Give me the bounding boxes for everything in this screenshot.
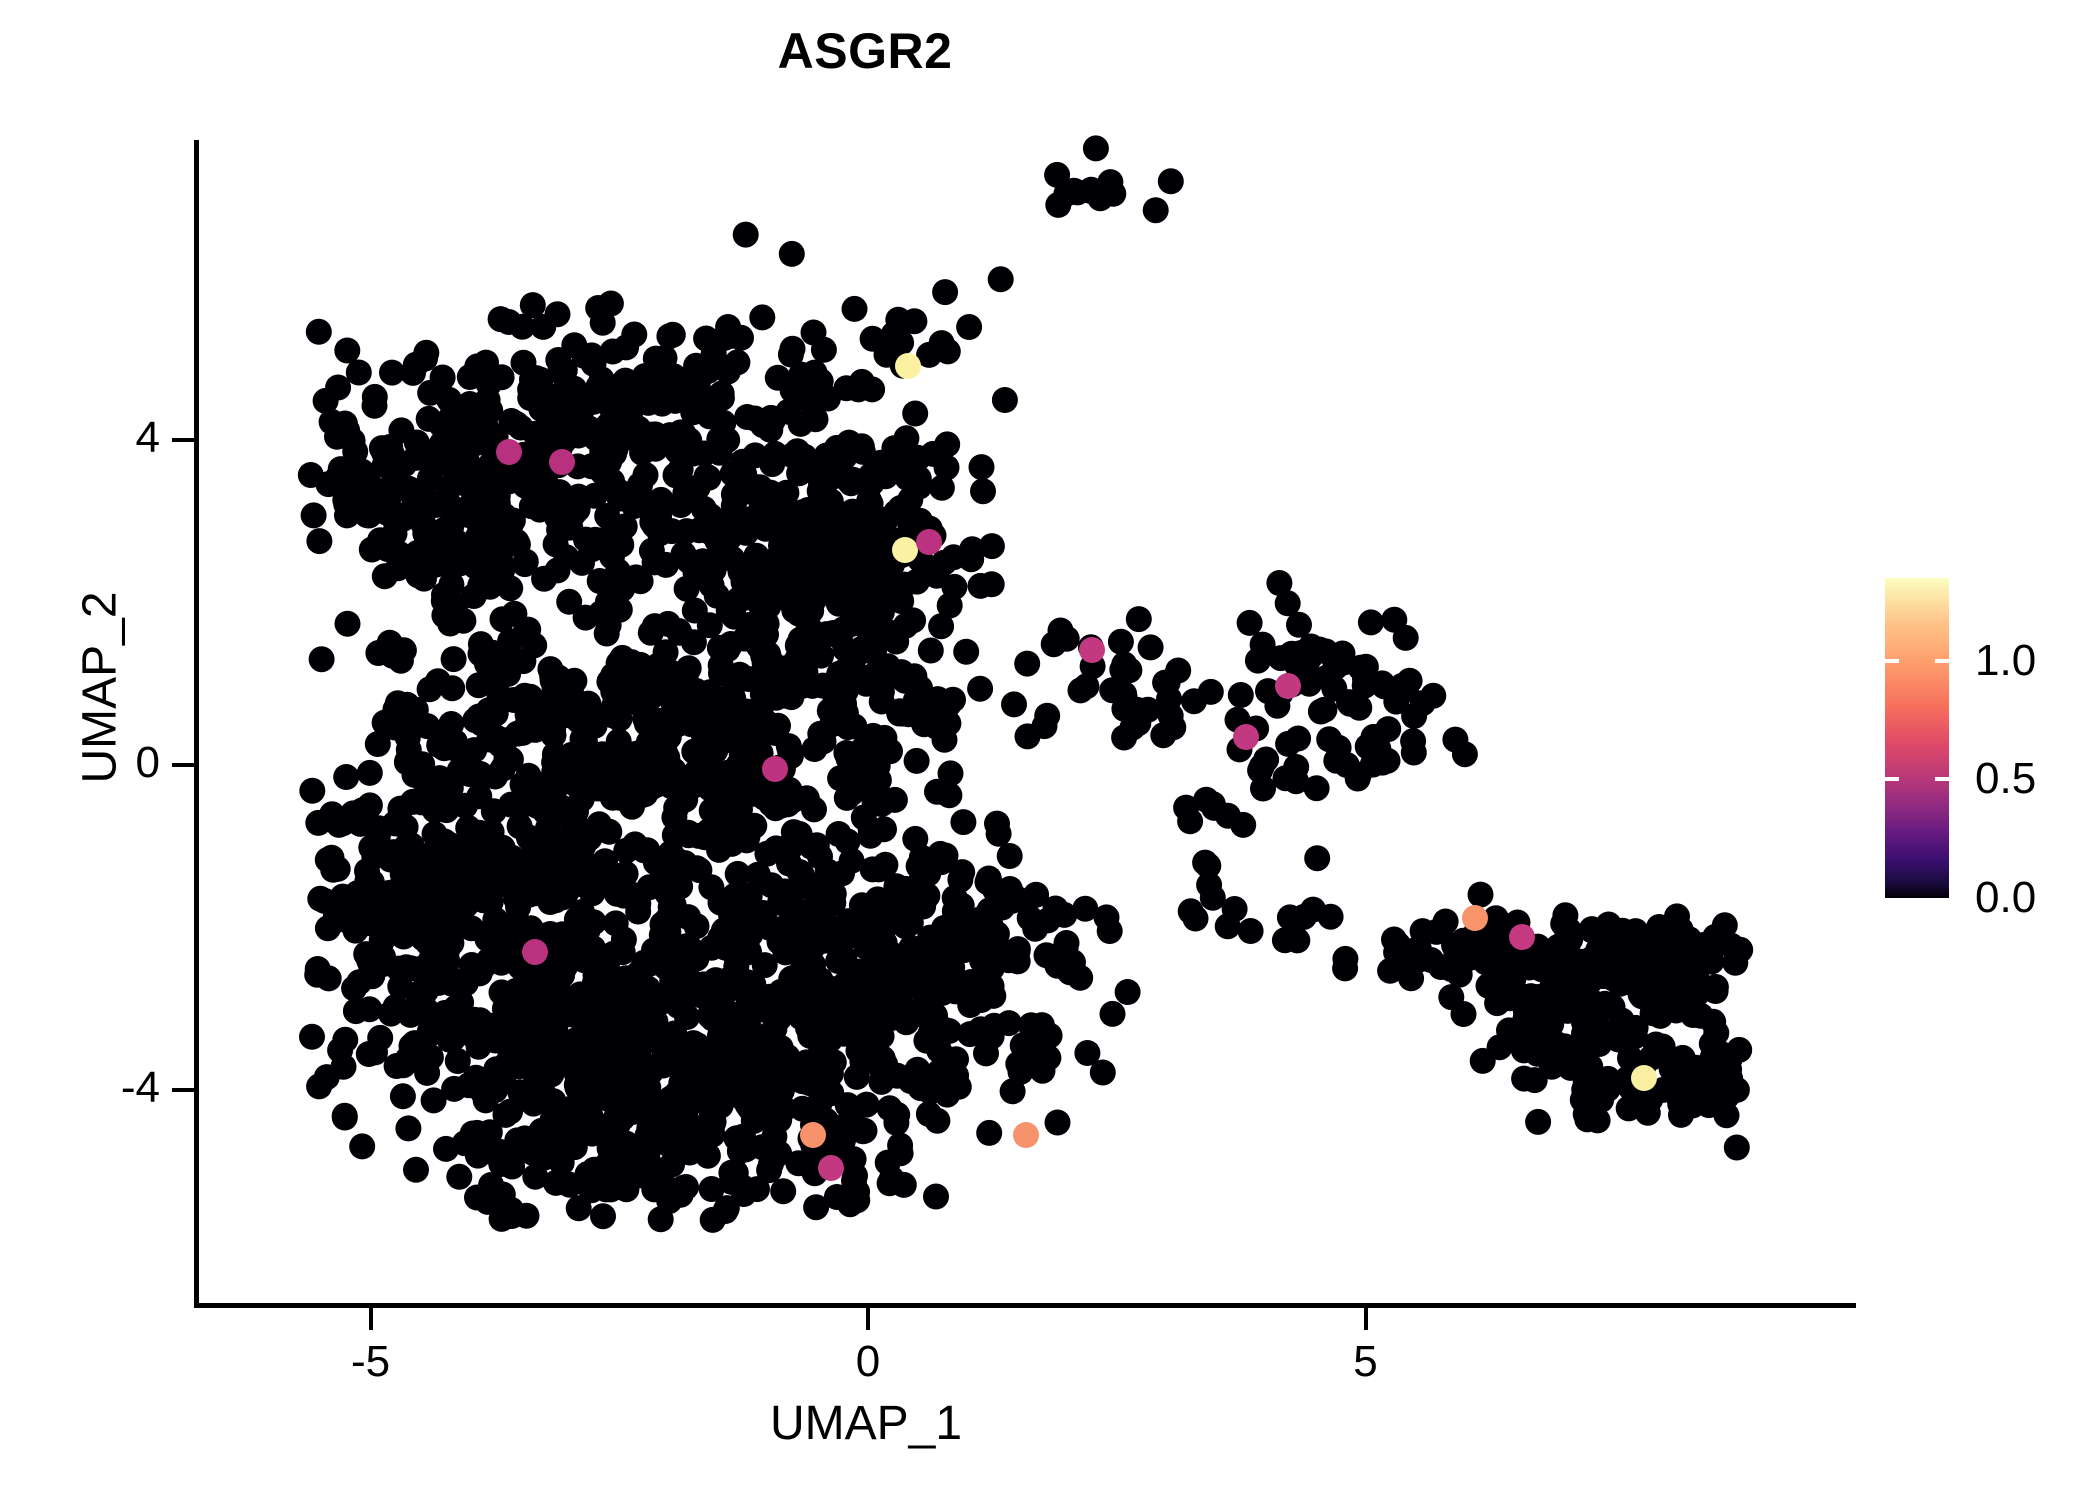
scatter-point (661, 988, 687, 1014)
scatter-point (610, 1105, 636, 1131)
scatter-point (931, 550, 957, 576)
scatter-point (569, 550, 595, 576)
scatter-point (611, 883, 637, 909)
scatter-point (334, 338, 360, 364)
scatter-point-expressing (1631, 1065, 1657, 1091)
scatter-point (751, 1036, 777, 1062)
scatter-point (432, 829, 458, 855)
scatter-point (1228, 682, 1254, 708)
scatter-point (460, 490, 486, 516)
scatter-point (849, 369, 875, 395)
scatter-point (605, 558, 631, 584)
scatter-point (510, 648, 536, 674)
scatter-point (1275, 590, 1301, 616)
scatter-point (655, 936, 681, 962)
scatter-point (1108, 629, 1134, 655)
scatter-point (507, 813, 533, 839)
scatter-point (1311, 697, 1337, 723)
scatter-point (464, 353, 490, 379)
scatter-point-expressing (496, 439, 522, 465)
scatter-point (435, 541, 461, 567)
scatter-point (813, 560, 839, 586)
scatter-point (1337, 691, 1363, 717)
scatter-point (733, 222, 759, 248)
scatter-point (603, 910, 629, 936)
scatter-point (735, 1092, 761, 1118)
scatter-point (1125, 710, 1151, 736)
scatter-point (1100, 1001, 1126, 1027)
scatter-point (706, 837, 732, 863)
scatter-point (759, 1092, 785, 1118)
scatter-point-expressing (1462, 905, 1488, 931)
scatter-point (559, 768, 585, 794)
scatter-point (961, 926, 987, 952)
scatter-point (1307, 637, 1333, 663)
scatter-point (646, 502, 672, 528)
scatter-point (683, 353, 709, 379)
scatter-point (1525, 1109, 1551, 1135)
scatter-point (445, 904, 471, 930)
scatter-point (1001, 691, 1027, 717)
scatter-point (512, 970, 538, 996)
x-tick-label: 0 (768, 1340, 968, 1384)
scatter-point (869, 791, 895, 817)
scatter-point (545, 557, 571, 583)
scatter-point (1045, 1110, 1071, 1136)
scatter-point (1247, 757, 1273, 783)
scatter-point (1724, 1135, 1750, 1161)
scatter-point (372, 563, 398, 589)
scatter-point (849, 433, 875, 459)
scatter-point (1138, 634, 1164, 660)
scatter-point (1433, 909, 1459, 935)
scatter-point (984, 811, 1010, 837)
scatter-point (450, 608, 476, 634)
scatter-point (530, 314, 556, 340)
scatter-point (1074, 1040, 1100, 1066)
scatter-point (1479, 925, 1505, 951)
scatter-point (988, 266, 1014, 292)
x-tick-label: -5 (271, 1340, 471, 1384)
scatter-point (512, 683, 538, 709)
scatter-point (834, 656, 860, 682)
scatter-point (934, 431, 960, 457)
scatter-point (666, 618, 692, 644)
scatter-point (1487, 984, 1513, 1010)
scatter-point (844, 959, 870, 985)
scatter-point (452, 1130, 478, 1156)
scatter-point (626, 1039, 652, 1065)
scatter-point (714, 427, 740, 453)
scatter-point (1014, 651, 1040, 677)
scatter-point (922, 1003, 948, 1029)
scatter-point (1237, 610, 1263, 636)
colorbar-tick-label: 0.5 (1975, 757, 2036, 801)
scatter-point (306, 319, 332, 345)
umap-feature-plot: ASGR2 40-4 -505 UMAP_1 UMAP_2 1.00.50.0 (0, 0, 2100, 1500)
scatter-point (1670, 1045, 1696, 1071)
scatter-point (343, 998, 369, 1024)
scatter-point (1143, 197, 1169, 223)
scatter-point (564, 906, 590, 932)
scatter-point (902, 401, 928, 427)
scatter-point (595, 759, 621, 785)
scatter-point (1115, 979, 1141, 1005)
scatter-point (757, 984, 783, 1010)
scatter-point (1596, 912, 1622, 938)
scatter-point (766, 1140, 792, 1166)
scatter-point (441, 646, 467, 672)
scatter-point (1048, 618, 1074, 644)
scatter-point (967, 676, 993, 702)
scatter-point (969, 454, 995, 480)
scatter-point (1420, 683, 1446, 709)
scatter-point (1318, 904, 1344, 930)
scatter-point (622, 831, 648, 857)
scatter-point (390, 1083, 416, 1109)
scatter-point (799, 589, 825, 615)
scatter-point (471, 953, 497, 979)
scatter-point (594, 621, 620, 647)
x-tick-mark (369, 1308, 373, 1330)
scatter-point (803, 1194, 829, 1220)
scatter-point (549, 1150, 575, 1176)
scatter-point (1083, 135, 1109, 161)
scatter-point (613, 1131, 639, 1157)
scatter-point (1584, 997, 1610, 1023)
scatter-point (1703, 974, 1729, 1000)
scatter-point (795, 958, 821, 984)
scatter-point (1699, 1031, 1725, 1057)
colorbar-tick-mark (1885, 777, 1899, 781)
scatter-point (385, 705, 411, 731)
scatter-point (320, 857, 346, 883)
scatter-point (1330, 641, 1356, 667)
scatter-point (362, 1039, 388, 1065)
scatter-point (473, 401, 499, 427)
scatter-point (438, 572, 464, 598)
scatter-point (473, 1087, 499, 1113)
scatter-point (777, 1060, 803, 1086)
scatter-point (734, 404, 760, 430)
scatter-point (346, 360, 372, 386)
scatter-point (299, 778, 325, 804)
scatter-point (1712, 1082, 1738, 1108)
scatter-point (420, 443, 446, 469)
scatter-point (953, 639, 979, 665)
scatter-point (841, 1168, 867, 1194)
scatter-point (909, 845, 935, 871)
scatter-point (479, 819, 505, 845)
scatter-point (932, 279, 958, 305)
scatter-point (590, 1203, 616, 1229)
scatter-point (365, 640, 391, 666)
scatter-point (682, 598, 708, 624)
scatter-point (805, 1046, 831, 1072)
scatter-point (439, 675, 465, 701)
scatter-point (898, 1068, 924, 1094)
scatter-point (1332, 946, 1358, 972)
scatter-point (860, 326, 886, 352)
scatter-point (605, 478, 631, 504)
scatter-point (774, 655, 800, 681)
scatter-point (819, 464, 845, 490)
scatter-point (557, 1096, 583, 1122)
scatter-point (333, 764, 359, 790)
scatter-point (604, 397, 630, 423)
scatter-point (403, 1157, 429, 1183)
scatter-point (516, 763, 542, 789)
scatter-point (622, 377, 648, 403)
scatter-point (787, 905, 813, 931)
scatter-point (1442, 727, 1468, 753)
scatter-point (1555, 972, 1581, 998)
scatter-point (827, 503, 853, 529)
scatter-point (628, 958, 654, 984)
scatter-point (824, 435, 850, 461)
colorbar-gradient (1885, 578, 1949, 898)
scatter-point (371, 439, 397, 465)
scatter-point (765, 713, 791, 739)
scatter-point (384, 886, 410, 912)
y-tick-label: -4 (121, 1066, 160, 1110)
scatter-point (1441, 932, 1467, 958)
scatter-point (330, 884, 356, 910)
scatter-point (1346, 762, 1372, 788)
scatter-point (1195, 853, 1221, 879)
scatter-point-expressing (1013, 1122, 1039, 1148)
scatter-point (429, 792, 455, 818)
scatter-point (349, 1133, 375, 1159)
scatter-point (811, 908, 837, 934)
scatter-point (670, 1175, 696, 1201)
scatter-point (798, 378, 824, 404)
scatter-point (418, 1044, 444, 1070)
scatter-point (924, 779, 950, 805)
scatter-point (970, 478, 996, 504)
scatter-point (561, 332, 587, 358)
scatter-point (851, 752, 877, 778)
scatter-point (566, 982, 592, 1008)
scatter-point (482, 764, 508, 790)
scatter-point (504, 411, 530, 437)
scatter-point (510, 467, 536, 493)
scatter-point (643, 354, 669, 380)
scatter-point (695, 978, 721, 1004)
scatter-point (918, 638, 944, 664)
scatter-point (359, 869, 385, 895)
scatter-point (1281, 641, 1307, 667)
scatter-point (1022, 916, 1048, 942)
scatter-point (543, 531, 569, 557)
scatter-point (1032, 713, 1058, 739)
scatter-point (703, 932, 729, 958)
scatter-point (462, 707, 488, 733)
scatter-point (539, 790, 565, 816)
scatter-point (347, 811, 373, 837)
scatter-point (778, 684, 804, 710)
scatter-point (640, 764, 666, 790)
scatter-point (468, 631, 494, 657)
scatter-point (973, 1040, 999, 1066)
y-tick-mark (172, 438, 194, 442)
scatter-point (699, 1103, 725, 1129)
scatter-point (422, 857, 448, 883)
scatter-point (362, 393, 388, 419)
scatter-point (889, 446, 915, 472)
y-axis-title: UMAP_2 (73, 338, 128, 1038)
scatter-point (1198, 679, 1224, 705)
scatter-point (446, 1164, 472, 1190)
scatter-point (866, 856, 892, 882)
scatter-point (425, 950, 451, 976)
scatter-point (390, 1052, 416, 1078)
scatter-point (641, 1176, 667, 1202)
scatter-point (749, 304, 775, 330)
scatter-point (489, 979, 515, 1005)
scatter-point (449, 1011, 475, 1037)
scatter-point (306, 528, 332, 554)
scatter-point (1201, 795, 1227, 821)
scatter-point (1543, 998, 1569, 1024)
scatter-point (1126, 606, 1152, 632)
scatter-point (763, 835, 789, 861)
scatter-point (860, 723, 886, 749)
colorbar-tick-mark (1935, 777, 1949, 781)
scatter-point (1043, 896, 1069, 922)
scatter-point (1352, 666, 1378, 692)
scatter-point (848, 591, 874, 617)
scatter-point (819, 711, 845, 737)
scatter-point (331, 1054, 357, 1080)
scatter-point (335, 611, 361, 637)
scatter-point (869, 689, 895, 715)
y-tick-label: 4 (136, 416, 160, 460)
scatter-point (728, 1134, 754, 1160)
scatter-point (862, 633, 888, 659)
scatter-point (315, 471, 341, 497)
scatter-point (1635, 970, 1661, 996)
scatter-point (1375, 716, 1401, 742)
scatter-point (849, 1049, 875, 1075)
scatter-point (466, 1034, 492, 1060)
scatter-point (779, 241, 805, 267)
scatter-point (932, 1054, 958, 1080)
scatter-point (1285, 726, 1311, 752)
scatter-point (911, 711, 937, 737)
scatter-point-expressing (1079, 637, 1105, 663)
scatter-point (918, 928, 944, 954)
scatter-point (307, 886, 333, 912)
scatter-point (765, 365, 791, 391)
scatter-point (1178, 898, 1204, 924)
scatter-point (498, 1042, 524, 1068)
scatter-point (305, 956, 331, 982)
scatter-point (888, 330, 914, 356)
scatter-point-expressing (1509, 924, 1535, 950)
scatter-point (493, 940, 519, 966)
scatter-point (1393, 625, 1419, 651)
scatter-point (1116, 657, 1142, 683)
scatter-point (438, 711, 464, 737)
scatter-point (496, 309, 522, 335)
x-axis-title: UMAP_1 (196, 1396, 1536, 1451)
scatter-point (1035, 1045, 1061, 1071)
scatter-point (600, 339, 626, 365)
scatter-point (976, 1120, 1002, 1146)
scatter-point (1586, 1031, 1612, 1057)
scatter-point (1152, 670, 1178, 696)
scatter-point (904, 748, 930, 774)
scatter-point (643, 1109, 669, 1135)
scatter-point (657, 659, 683, 685)
scatter-point (924, 1108, 950, 1134)
scatter-point (871, 916, 897, 942)
scatter-point (893, 1009, 919, 1035)
x-tick-mark (1364, 1308, 1368, 1330)
scatter-point (625, 671, 651, 697)
scatter-point (545, 665, 571, 691)
scatter-point (1215, 913, 1241, 939)
scatter-point-expressing (818, 1155, 844, 1181)
scatter-point (621, 322, 647, 348)
scatter-point (724, 668, 750, 694)
scatter-point (667, 874, 693, 900)
scatter-point (717, 759, 743, 785)
y-tick-mark (172, 763, 194, 767)
scatter-point (968, 987, 994, 1013)
scatter-point (860, 988, 886, 1014)
scatter-point (615, 996, 641, 1022)
scatter-point (1718, 933, 1744, 959)
scatter-point-expressing (549, 449, 575, 475)
scatter-point (1245, 648, 1271, 674)
scatter-point (721, 604, 747, 630)
scatter-point (1623, 1015, 1649, 1041)
scatter-point (976, 866, 1002, 892)
scatter-point (1158, 168, 1184, 194)
scatter-point-expressing (1275, 673, 1301, 699)
scatter-point (721, 698, 747, 724)
scatter-point (671, 520, 697, 546)
scatter-point (436, 387, 462, 413)
scatter-point (928, 613, 954, 639)
colorbar-tick-mark (1885, 659, 1899, 663)
scatter-point (1470, 1048, 1496, 1074)
scatter-point (1397, 951, 1423, 977)
scatter-point (1029, 1012, 1055, 1038)
scatter-point (949, 859, 975, 885)
scatter-point (590, 310, 616, 336)
scatter-point (699, 1176, 725, 1202)
scatter-point (725, 477, 751, 503)
scatter-point (375, 479, 401, 505)
colorbar-tick-label: 0.0 (1975, 876, 2036, 920)
scatter-point (514, 1085, 540, 1111)
scatter-point-expressing (916, 529, 942, 555)
scatter-point (379, 360, 405, 386)
scatter-point (534, 881, 560, 907)
scatter-point (770, 1178, 796, 1204)
scatter-point (567, 1073, 593, 1099)
scatter-point (992, 387, 1018, 413)
scatter-point (527, 497, 553, 523)
scatter-point (642, 549, 668, 575)
scatter-point (1283, 754, 1309, 780)
scatter-point (902, 956, 928, 982)
scatter-point (650, 735, 676, 761)
scatter-point (854, 533, 880, 559)
